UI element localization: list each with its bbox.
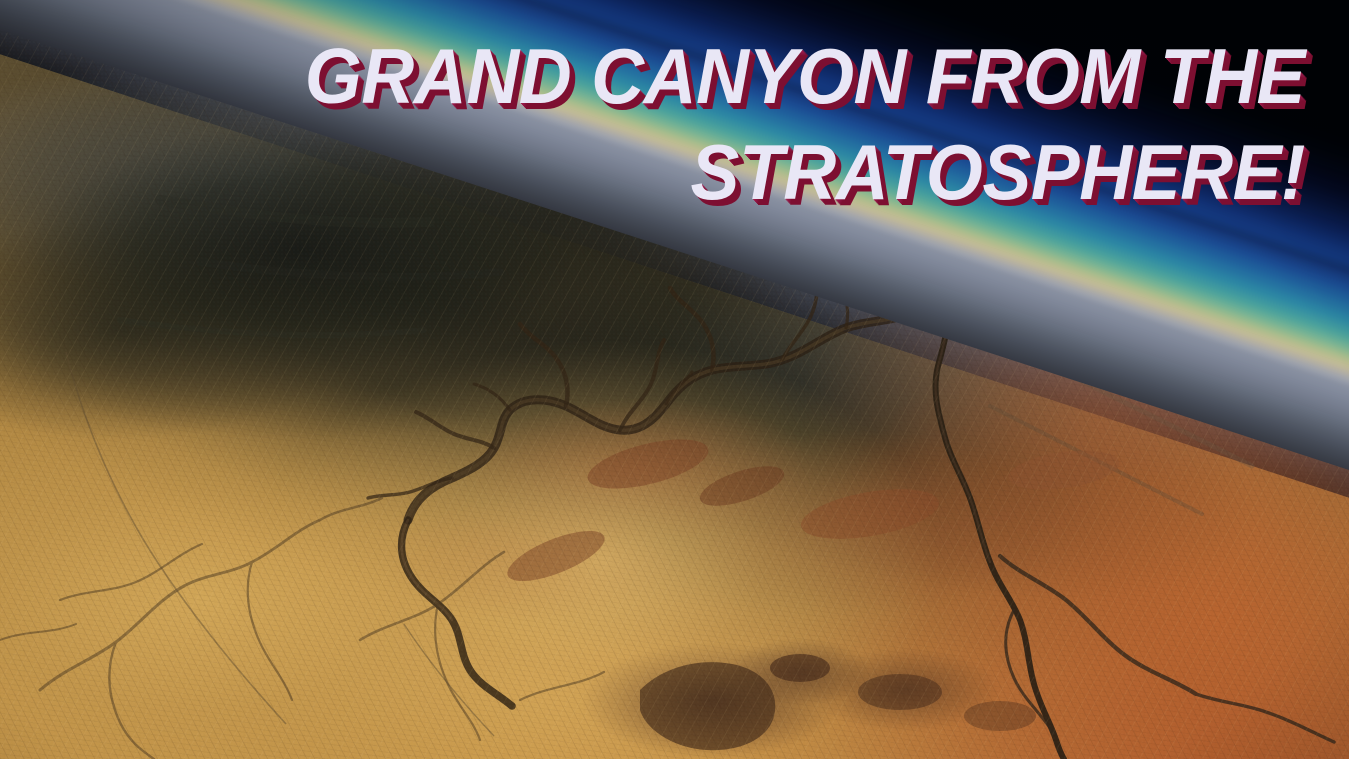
earth-limb xyxy=(0,0,1349,759)
stratosphere-photo: GRAND CANYON FROM THE STRATOSPHERE! xyxy=(0,0,1349,759)
